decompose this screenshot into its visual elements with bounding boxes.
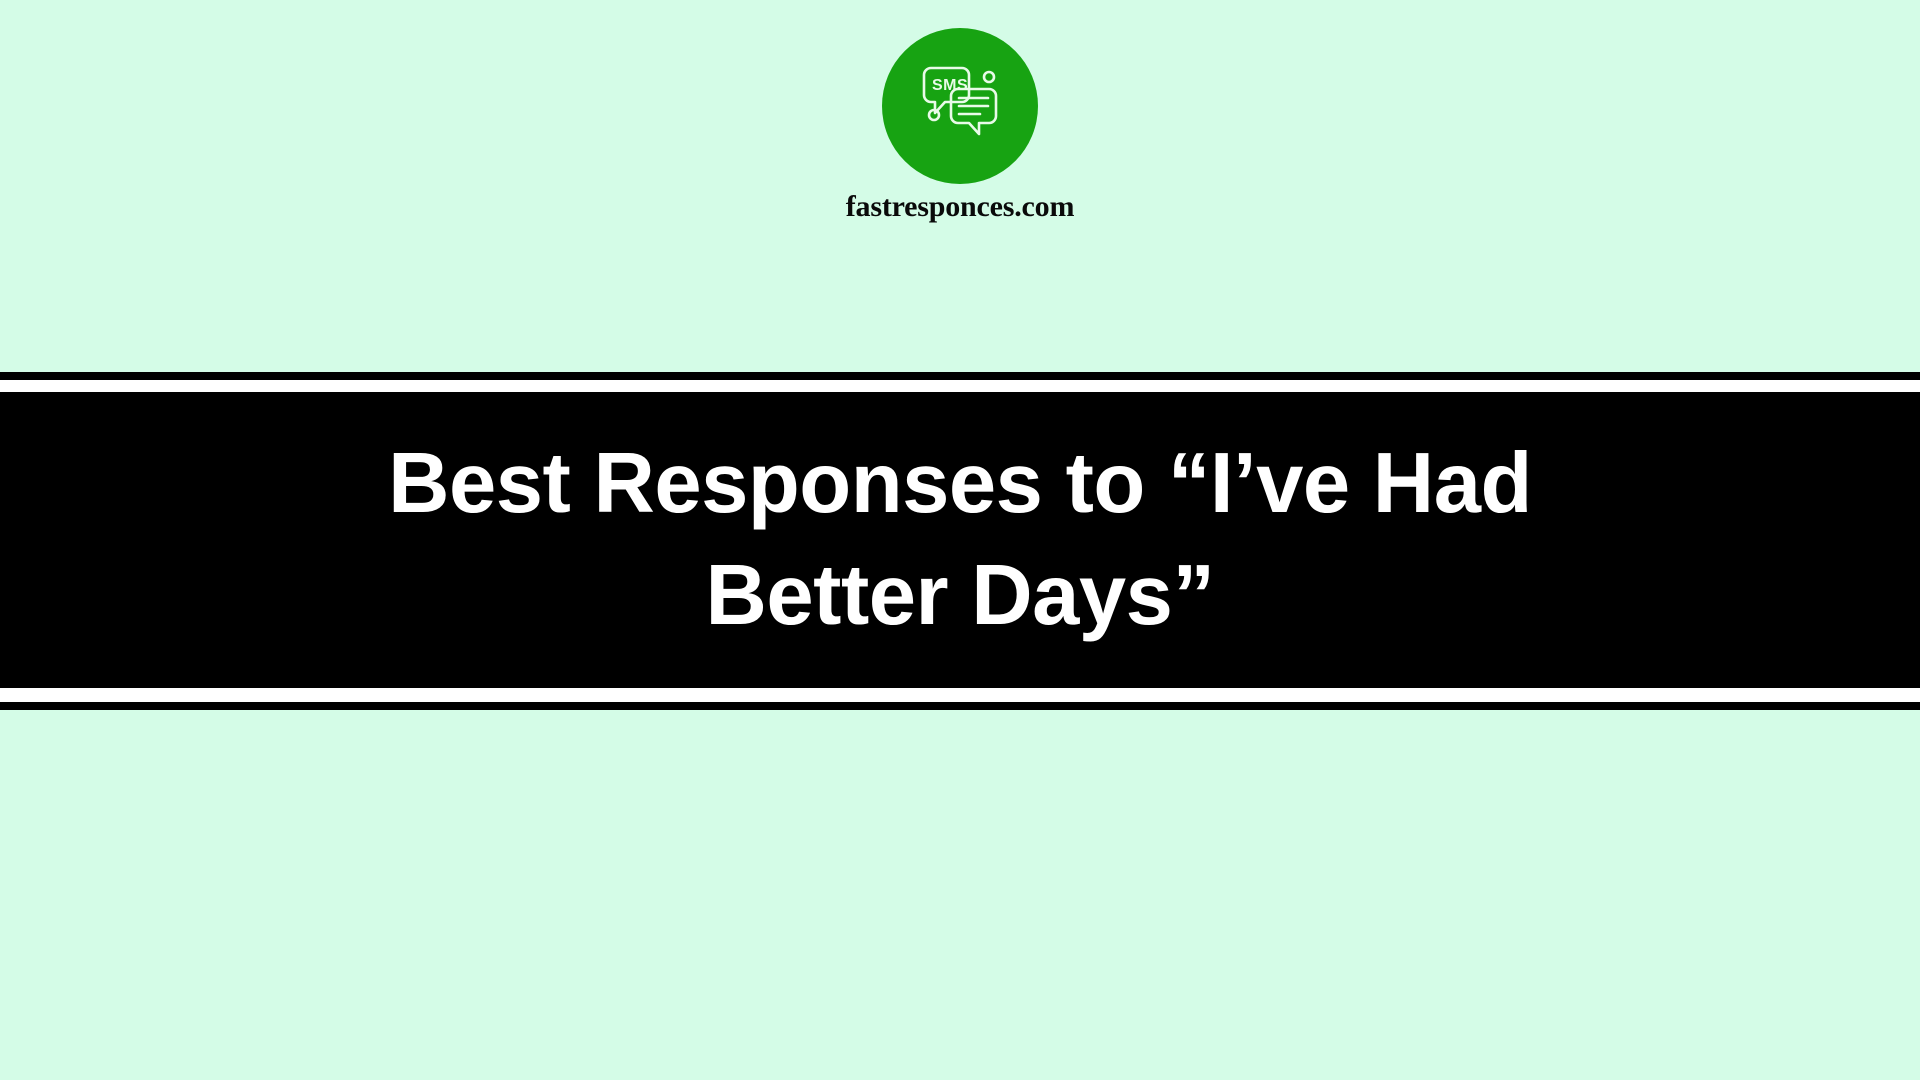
banner-gap-top <box>0 380 1920 392</box>
banner-rule-bottom <box>0 702 1920 710</box>
svg-text:SMS: SMS <box>932 77 968 94</box>
brand-block: SMS fastresponces.com <box>0 0 1920 222</box>
page-title: Best Responses to “I’ve Had Better Days” <box>295 428 1625 652</box>
banner-rule-top <box>0 372 1920 380</box>
site-name: fastresponces.com <box>846 192 1075 222</box>
lower-empty-area <box>0 710 1920 1080</box>
title-banner: Best Responses to “I’ve Had Better Days” <box>0 392 1920 688</box>
sms-chat-bubbles-icon: SMS <box>908 54 1012 158</box>
banner-gap-bottom <box>0 688 1920 702</box>
logo-badge: SMS <box>882 28 1038 184</box>
page-root: SMS fastresponces.com Best Responses to … <box>0 0 1920 1080</box>
